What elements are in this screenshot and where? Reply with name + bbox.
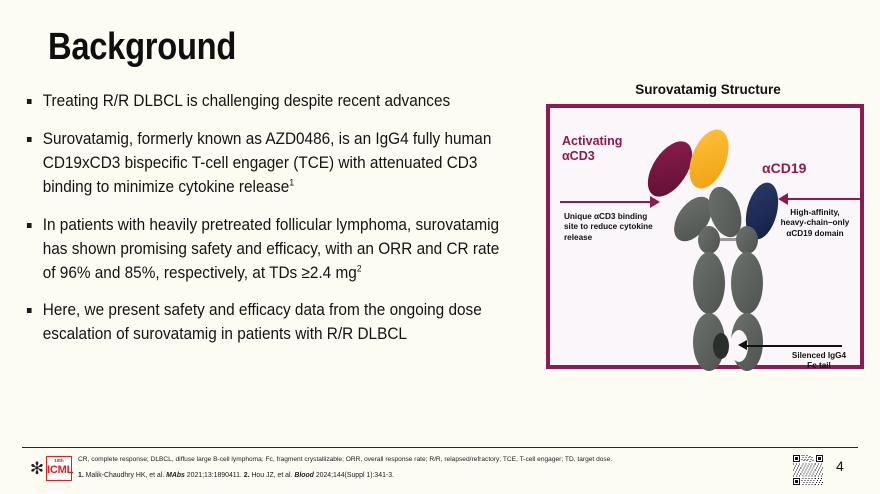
bullet-item: In patients with heavily pretreated foll…: [26, 214, 502, 286]
bullet-item: Treating R/R DLBCL is challenging despit…: [26, 90, 502, 114]
fc-callout-text: Silenced IgG4 Fc tail: [778, 351, 860, 372]
bullet-marker: [27, 308, 32, 313]
acd19-callout-line2: heavy-chain–only: [781, 218, 850, 227]
bullet-list: Treating R/R DLBCL is challenging despit…: [26, 90, 538, 361]
bullet-marker: [27, 223, 32, 228]
acd3-callout-arrow: [560, 201, 652, 203]
reference-2-citation: 2024;144(Suppl 1):341-3.: [316, 472, 394, 479]
bullet-superscript: 1: [289, 177, 294, 188]
structure-diagram: Activating αCD3 αCD19 Unique αCD3 bindin…: [550, 108, 860, 365]
fc-callout-arrowhead: [738, 340, 747, 350]
chain-domain-gray: [736, 226, 758, 254]
qr-code[interactable]: [793, 455, 823, 485]
activating-acd3-label: Activating αCD3: [562, 134, 622, 164]
reference-1-journal: MAbs: [166, 472, 185, 479]
reference-1-citation: 2021;13:1890411.: [187, 472, 242, 479]
acd19-callout-line1: High-affinity,: [790, 208, 839, 217]
fc-callout-line2: Fc tail: [807, 361, 831, 370]
activating-acd3-line1: Activating: [562, 134, 622, 148]
figure-caption: Surovatamig Structure: [546, 82, 870, 97]
chain-domain-gray: [698, 226, 720, 254]
bullet-text: In patients with heavily pretreated foll…: [43, 216, 500, 282]
acd3-callout-line2: site to reduce cytokine: [564, 222, 653, 231]
acd3-callout-line1: Unique αCD3 binding: [564, 212, 647, 221]
reference-1-number: 1.: [78, 472, 84, 479]
bullet-marker: [27, 99, 32, 104]
bullet-superscript: 2: [357, 263, 362, 274]
acd3-callout-text: Unique αCD3 binding site to reduce cytok…: [564, 212, 674, 243]
page-number: 4: [836, 458, 844, 474]
activating-acd3-line2: αCD3: [562, 149, 595, 163]
bullet-text: Surovatamig, formerly known as AZD0486, …: [43, 130, 492, 196]
abbreviations-text: CR, complete response; DLBCL, diffuse la…: [78, 456, 768, 465]
acd19-label: αCD19: [762, 160, 806, 177]
page-title: Background: [48, 26, 236, 69]
acd3-callout-arrowhead: [650, 196, 660, 208]
chain-domain-gray: [693, 252, 725, 314]
surovatamig-structure-panel: Activating αCD3 αCD19 Unique αCD3 bindin…: [546, 104, 864, 369]
fc-callout-arrow: [746, 345, 842, 347]
references-text: 1. Malik-Chaudhry HK, et al. MAbs 2021;1…: [78, 471, 768, 480]
chain-domain-gray: [731, 252, 763, 314]
reference-1-authors: Malik-Chaudhry HK, et al.: [86, 472, 165, 479]
acd19-callout-arrow: [788, 198, 860, 200]
icml-badge: 18th ICML: [46, 456, 72, 481]
burst-icon: ✻: [28, 458, 46, 480]
acd19-callout-text: High-affinity, heavy-chain–only αCD19 do…: [772, 208, 858, 239]
acd19-callout-line3: αCD19 domain: [786, 229, 843, 238]
acd3-callout-line3: release: [564, 233, 592, 242]
icml-logo: ✻ 18th ICML: [28, 453, 74, 485]
icml-name-label: ICML: [47, 464, 71, 476]
orange-domain: [682, 124, 737, 194]
bullet-marker: [27, 137, 32, 142]
acd19-callout-arrowhead: [778, 193, 788, 205]
reference-2-authors: Hou JZ, et al.: [251, 472, 292, 479]
bullet-text: Treating R/R DLBCL is challenging despit…: [43, 92, 450, 110]
footer-divider: [22, 447, 858, 448]
fc-callout-line1: Silenced IgG4: [792, 351, 846, 360]
bullet-item: Here, we present safety and efficacy dat…: [26, 299, 502, 347]
reference-2-number: 2.: [244, 472, 250, 479]
slide-canvas: Background Treating R/R DLBCL is challen…: [0, 0, 880, 494]
reference-2-journal: Blood: [294, 472, 314, 479]
silenced-mutation-marker: [713, 333, 729, 359]
bullet-text: Here, we present safety and efficacy dat…: [43, 301, 482, 343]
bullet-item: Surovatamig, formerly known as AZD0486, …: [26, 128, 502, 200]
